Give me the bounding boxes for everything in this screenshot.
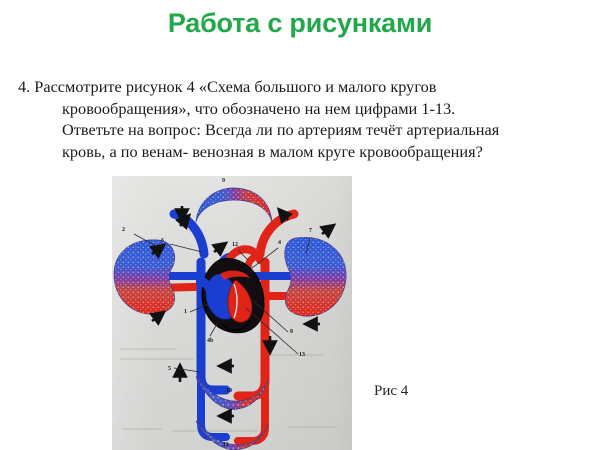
figure-label-4: 4 [278,240,281,246]
arrow-right-in [322,228,330,234]
figure-circulatory-system: 2 6 9 12 4 7 1 4b 8 13 5 10 11 [112,176,352,450]
capillary-bed-left-organ [114,240,175,314]
question-block: 4. Рассмотрите рисунок 4 «Схема большого… [18,76,584,162]
figure-label-2: 2 [122,227,125,233]
question-paragraph: 4. Рассмотрите рисунок 4 «Схема большого… [18,76,584,162]
leader-6 [170,244,202,252]
arrow-left-out [152,315,160,321]
figure-caption: Рис 4 [374,383,408,400]
figure-label-8: 8 [290,329,293,335]
figure-label-5: 5 [168,366,171,372]
figure-label-10: 10 [226,388,232,394]
figure-label-12: 12 [232,242,238,248]
question-line-2: кровообращения», что обозначено на нем ц… [40,98,584,120]
figure-label-3: 1 [184,309,187,315]
heart [196,259,264,333]
question-line-4: кровь, а по венам- венозная в малом круг… [40,141,584,163]
arrow-heart-in [214,246,222,252]
figure-label-4b: 4b [207,338,213,344]
figure-label-9: 9 [222,178,225,184]
question-line-3: Ответьте на вопрос: Всегда ли по артерия… [40,119,584,141]
capillary-bed-right-organ [285,237,346,316]
page-title: Работа с рисунками [0,8,600,39]
aortic-arch [230,249,260,260]
leader-5 [174,368,200,372]
figure-label-11: 11 [223,442,229,448]
figure-label-13: 13 [299,352,305,358]
figure-label-6: 6 [161,238,164,244]
vein-from-top-left [174,214,204,254]
question-line-1: 4. Рассмотрите рисунок 4 «Схема большого… [40,76,584,98]
capillary-bed-lower-bottom [196,421,268,450]
circulatory-diagram-svg [112,176,352,450]
capillary-bed-top [196,188,272,222]
figure-label-7: 7 [309,228,312,234]
